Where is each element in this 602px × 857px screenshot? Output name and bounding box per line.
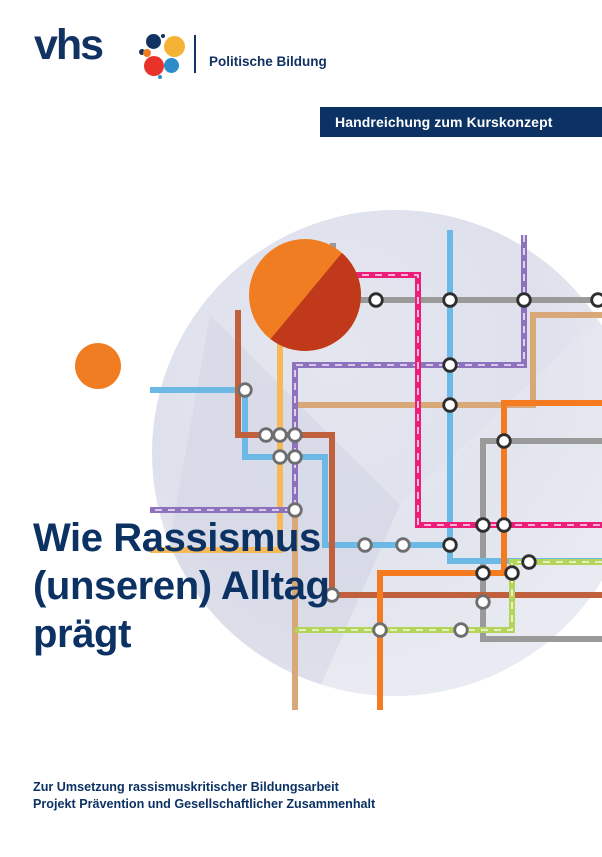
logo-dot-orange-small-icon <box>143 49 151 57</box>
orange-accent-dot-icon <box>75 343 121 389</box>
banner-label: Handreichung zum Kurskonzept <box>335 114 552 130</box>
page-title: Wie Rassismus (unseren) Alltag prägt <box>33 514 373 658</box>
station-marker <box>374 624 387 637</box>
station-marker <box>592 294 602 307</box>
station-marker <box>444 359 457 372</box>
station-marker <box>455 624 468 637</box>
station-marker <box>498 435 511 448</box>
logo-dot-blue-small-icon <box>158 75 162 79</box>
station-marker <box>444 294 457 307</box>
logo-subtitle: Politische Bildung <box>209 54 327 69</box>
station-marker <box>477 519 490 532</box>
station-marker <box>289 451 302 464</box>
logo-dot-blue-icon <box>164 58 179 73</box>
logo-divider <box>194 35 196 73</box>
station-marker <box>397 539 410 552</box>
station-marker <box>274 429 287 442</box>
logo-dot-navy-large-icon <box>146 34 161 49</box>
footer-subtitle-line-1: Zur Umsetzung rassismuskritischer Bildun… <box>33 779 553 796</box>
kurskonzept-banner: Handreichung zum Kurskonzept <box>320 107 602 137</box>
logo-dot-red-icon <box>144 56 164 76</box>
vhs-wordmark: vhs <box>34 23 102 67</box>
station-marker <box>444 539 457 552</box>
station-marker <box>274 451 287 464</box>
vhs-logo: vhs Politische Bildung <box>34 17 324 73</box>
station-marker <box>518 294 531 307</box>
station-marker <box>239 384 252 397</box>
footer: Zur Umsetzung rassismuskritischer Bildun… <box>33 779 553 813</box>
station-marker <box>506 567 519 580</box>
station-marker <box>498 519 511 532</box>
station-marker <box>523 556 536 569</box>
station-marker <box>444 399 457 412</box>
logo-dot-navy-small-icon <box>161 34 165 38</box>
logo-dot-amber-icon <box>164 36 185 57</box>
station-marker <box>370 294 383 307</box>
station-marker <box>289 429 302 442</box>
footer-subtitle-line-2: Projekt Prävention und Gesellschaftliche… <box>33 796 553 813</box>
station-marker <box>477 567 490 580</box>
vhs-logo-dots-cluster <box>139 33 187 79</box>
station-marker <box>477 596 490 609</box>
station-marker <box>260 429 273 442</box>
